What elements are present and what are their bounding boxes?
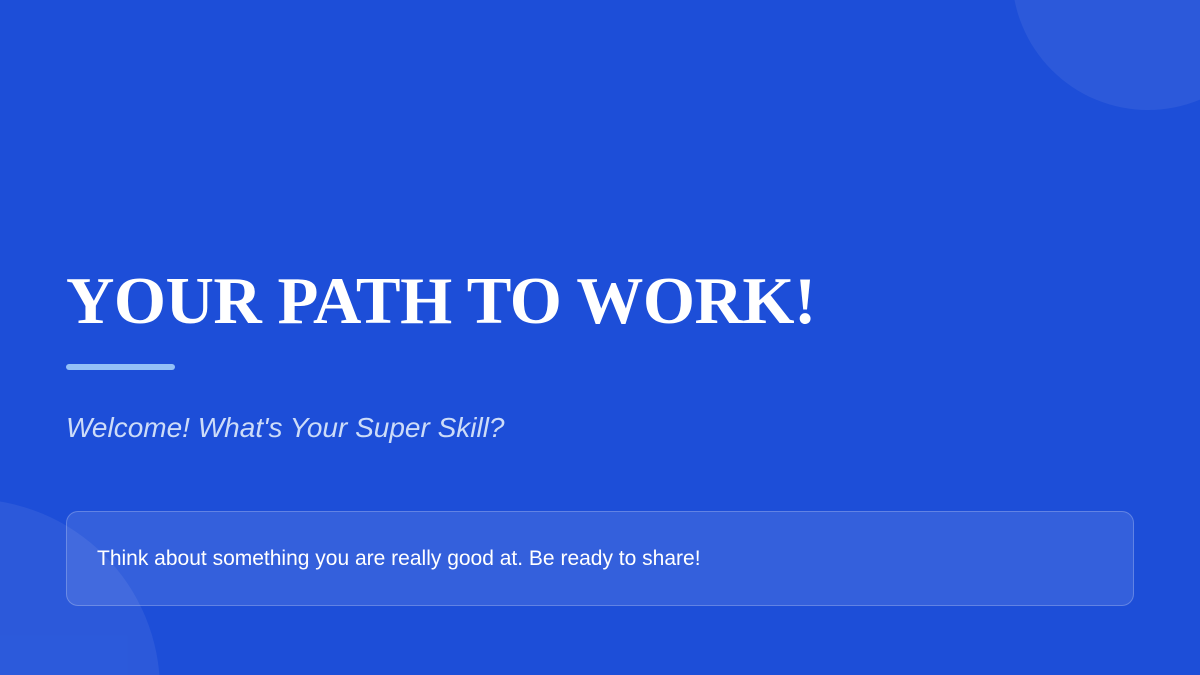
slide-content: YOUR PATH TO WORK! Welcome! What's Your … — [66, 0, 1134, 675]
slide-canvas: YOUR PATH TO WORK! Welcome! What's Your … — [0, 0, 1200, 675]
prompt-callout-box: Think about something you are really goo… — [66, 511, 1134, 606]
slide-subtitle: Welcome! What's Your Super Skill? — [66, 410, 505, 446]
slide-title: YOUR PATH TO WORK! — [66, 266, 816, 336]
prompt-callout-text: Think about something you are really goo… — [67, 544, 731, 573]
title-accent-bar — [66, 364, 175, 370]
